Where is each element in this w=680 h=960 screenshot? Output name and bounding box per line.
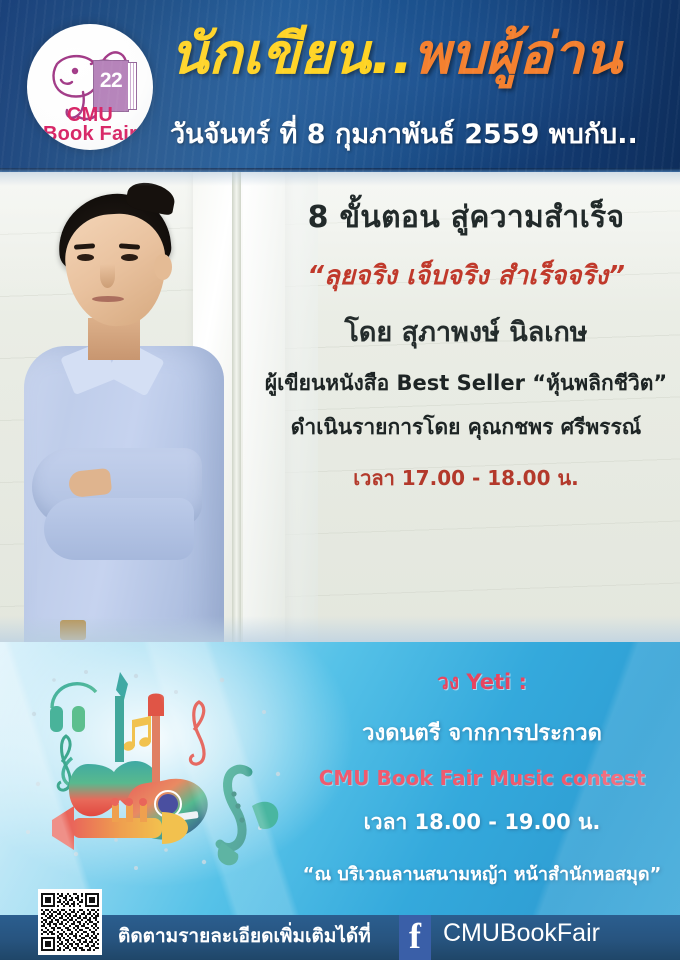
session-details: 8 ขั้นตอน สู่ความสำเร็จ “ลุยจริง เจ็บจริ… bbox=[252, 194, 680, 494]
logo-text-bookfair: Book Fair bbox=[27, 123, 153, 146]
logo-edition-number: 22 bbox=[93, 69, 129, 93]
speaker-mouth bbox=[92, 296, 124, 302]
music-details: วง Yeti : วงดนตรี จากการประกวด CMU Book … bbox=[292, 666, 672, 888]
door-frame-edge bbox=[232, 172, 241, 642]
music-contest-name: CMU Book Fair Music contest bbox=[292, 766, 672, 790]
session-credential: ผู้เขียนหนังสือ Best Seller “หุ้นพลิกชีว… bbox=[252, 367, 680, 400]
music-instruments-illustration bbox=[16, 654, 288, 884]
session-speaker: โดย สุภาพงษ์ นิลเกษ bbox=[252, 310, 680, 353]
session-moderator: ดำเนินรายการโดย คุณกชพร ศรีพรรณ์ bbox=[252, 411, 680, 444]
music-description: วงดนตรี จากการประกวด bbox=[292, 715, 672, 750]
music-section: วง Yeti : วงดนตรี จากการประกวด CMU Book … bbox=[0, 642, 680, 915]
session-quote: “ลุยจริง เจ็บจริง สำเร็จจริง” bbox=[252, 255, 680, 296]
session-title: 8 ขั้นตอน สู่ความสำเร็จ bbox=[252, 194, 680, 241]
treble-clef-icon-red bbox=[190, 702, 204, 764]
event-date: วันจันทร์ ที่ 8 กุมภาพันธ์ 2559 พบกับ.. bbox=[170, 112, 670, 155]
qr-code[interactable] bbox=[38, 889, 102, 955]
facebook-page-name[interactable]: CMUBookFair bbox=[443, 919, 600, 948]
speaker-arm-lower bbox=[44, 498, 194, 560]
facebook-f-glyph: f bbox=[399, 914, 431, 958]
music-note-icon-yellow bbox=[122, 716, 152, 752]
music-time: เวลา 18.00 - 19.00 น. bbox=[292, 806, 672, 839]
headphone-earcup-right bbox=[72, 706, 85, 732]
headline-part-writers: นักเขียน.. bbox=[170, 22, 413, 87]
speaker-eye-right bbox=[121, 254, 138, 261]
saxophone-icon bbox=[218, 769, 279, 865]
speaker-hand bbox=[68, 468, 112, 498]
poster-headline: นักเขียน..พบผู้อ่าน bbox=[170, 22, 670, 88]
photo-bottom-fade bbox=[0, 616, 680, 642]
speaker-nose bbox=[100, 264, 115, 288]
poster-root: 22 CMU Book Fair นักเขียน..พบผู้อ่าน วัน… bbox=[0, 0, 680, 960]
speaker-ear bbox=[154, 254, 172, 280]
music-band-name: วง Yeti : bbox=[292, 666, 672, 699]
headline-part-readers: พบผู้อ่าน bbox=[413, 22, 622, 87]
music-venue: “ณ บริเวณลานสนามหญ้า หน้าสำนักหอสมุด” bbox=[292, 859, 672, 888]
headphone-earcup-left bbox=[50, 706, 63, 732]
speaker-photo bbox=[14, 180, 229, 642]
footer-follow-text: ติดตามรายละเอียดเพิ่มเติมได้ที่ bbox=[118, 921, 371, 951]
session-time: เวลา 17.00 - 18.00 น. bbox=[252, 462, 680, 494]
top-banner: 22 CMU Book Fair นักเขียน..พบผู้อ่าน วัน… bbox=[0, 0, 680, 172]
speaker-eye-left bbox=[77, 254, 94, 261]
facebook-icon[interactable]: f bbox=[399, 915, 431, 960]
photo-top-fade bbox=[0, 172, 680, 186]
session-section: 8 ขั้นตอน สู่ความสำเร็จ “ลุยจริง เจ็บจริ… bbox=[0, 172, 680, 642]
cmu-book-fair-logo: 22 CMU Book Fair bbox=[27, 24, 153, 150]
